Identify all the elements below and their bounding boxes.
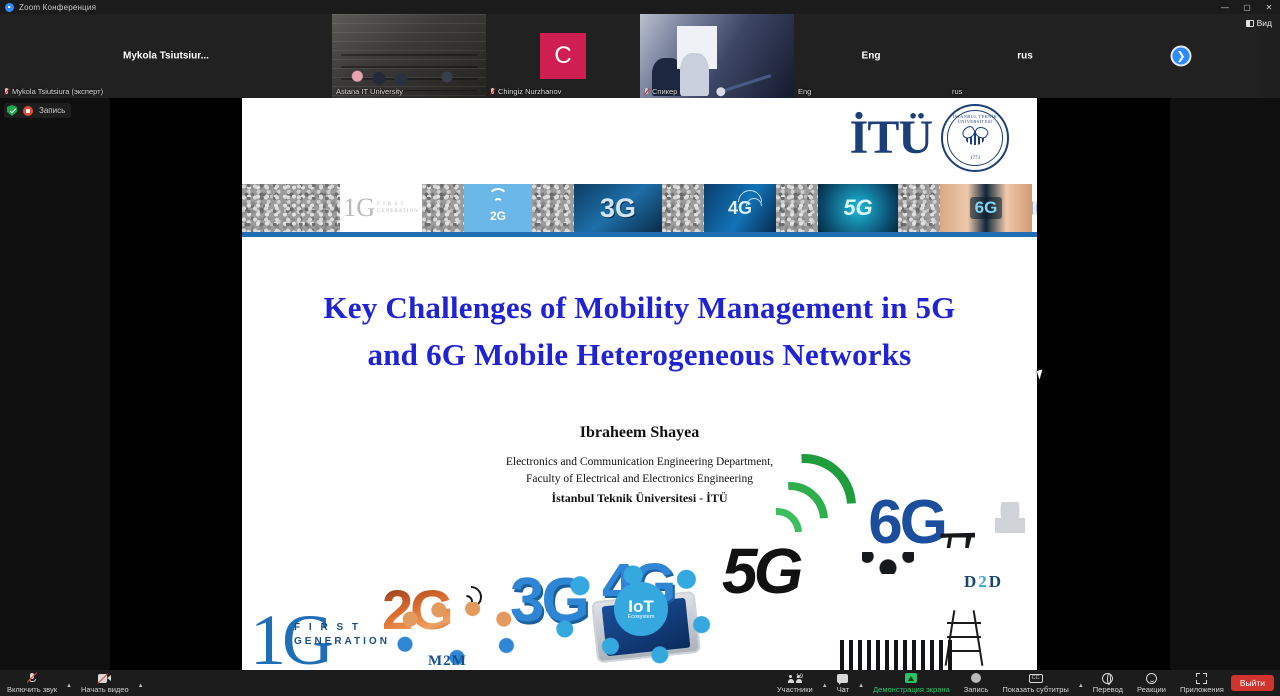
layout-icon <box>1246 20 1254 27</box>
microphone-muted-icon <box>27 673 37 684</box>
participant-name-label: rus <box>952 87 962 96</box>
participant-tile-astana-it-university[interactable]: Astana IT University <box>332 14 486 98</box>
strip-noise <box>776 184 818 232</box>
strip-noise <box>898 184 940 232</box>
toolbar-participants-button[interactable]: 19 Участники <box>770 670 820 696</box>
strip-1g-label: 1G <box>343 193 375 223</box>
toolbar-captions-button[interactable]: CC Показать субтитры <box>995 670 1075 696</box>
itu-seal-icon: İSTANBUL TEKNİK ÜNİVERSİTESİ 1773 <box>941 104 1009 172</box>
strip-1g-sub: F I R S TGENERATION <box>377 201 419 215</box>
iot-title: IoT <box>628 598 654 615</box>
strip-4g: 4G <box>704 184 776 232</box>
participant-nameplate: Astana IT University <box>336 87 403 96</box>
art-d2d-label: D2D <box>964 572 1003 592</box>
zoom-meeting-window: Zoom Конференция — ▢ ✕ Вид Mykola Tsiuts… <box>0 0 1280 696</box>
meeting-toolbar[interactable]: Включить звук ▲ Начать видео ▲ 19 Участн… <box>0 670 1280 696</box>
maximize-button[interactable]: ▢ <box>1236 0 1258 14</box>
slide-title: Key Challenges of Mobility Management in… <box>242 285 1037 378</box>
recording-label: Запись <box>39 106 65 115</box>
recording-indicator[interactable]: Запись <box>4 103 71 118</box>
participant-name-label: Спикер <box>652 87 677 96</box>
strip-2g: 2G <box>464 184 532 232</box>
toolbar-reactions-label: Реакции <box>1137 685 1166 694</box>
record-circle-icon <box>971 673 981 683</box>
participant-tile-mykola[interactable]: Mykola Tsiutsiur... Mykola Tsiutsiura (э… <box>0 14 332 98</box>
iot-subtitle: Ecosystem <box>628 615 655 621</box>
seal-year: 1773 <box>948 156 1002 161</box>
participant-nameplate: rus <box>952 87 962 96</box>
itu-wordmark: İTÜ <box>850 114 932 162</box>
strip-noise <box>242 184 340 232</box>
minimize-button[interactable]: — <box>1214 0 1236 14</box>
captions-options-caret[interactable]: ▲ <box>1076 683 1086 689</box>
toolbar-reactions-button[interactable]: Реакции <box>1130 670 1173 696</box>
participant-name-label: Eng <box>798 87 811 96</box>
art-5g-label: 5G <box>722 534 799 608</box>
participant-display-name: rus <box>948 51 1102 62</box>
slide-artwork: 1G F I R S TGENERATION 2G 3G 4G 5G 6G D2… <box>242 500 1037 670</box>
seal-text: İSTANBUL TEKNİK ÜNİVERSİTESİ <box>948 114 1002 124</box>
affiliation-line1: Electronics and Communication Engineerin… <box>242 454 1037 471</box>
strip-noise <box>532 184 574 232</box>
window-title: Zoom Конференция <box>19 3 96 12</box>
wifi-icon <box>481 193 515 208</box>
strip-6g: 6G <box>940 184 1032 232</box>
toolbar-video-button[interactable]: Начать видео <box>74 670 136 696</box>
audio-options-caret[interactable]: ▲ <box>64 683 74 689</box>
window-titlebar: Zoom Конференция — ▢ ✕ <box>0 0 1280 14</box>
presentation-board <box>677 26 717 70</box>
microphone-stand <box>721 74 772 93</box>
participant-name-label: Mykola Tsiutsiura (эксперт) <box>12 87 103 96</box>
art-6g-label: 6G <box>868 487 945 558</box>
participant-tile-chingiz-nurzhanov[interactable]: C Chingiz Nurzhanov <box>486 14 640 98</box>
humanoid-robot-icon <box>995 502 1025 542</box>
slide-header: İTÜ İSTANBUL TEKNİK ÜNİVERSİTESİ 1773 <box>242 98 1037 184</box>
strip-1g: 1GF I R S TGENERATION <box>340 184 422 232</box>
apps-icon <box>1196 673 1207 684</box>
participant-tile-rus[interactable]: rus rus <box>948 14 1102 98</box>
strip-noise <box>662 184 704 232</box>
strip-2g-label: 2G <box>490 209 506 223</box>
video-feed <box>332 14 486 98</box>
shared-slide: İTÜ İSTANBUL TEKNİK ÜNİVERSİTESİ 1773 1G… <box>242 98 1037 670</box>
toolbar-share-label: Демонстрация экрана <box>873 685 950 694</box>
signal-arcs-icon <box>736 188 762 214</box>
participant-nameplate: Eng <box>798 87 811 96</box>
shield-check-icon <box>7 105 17 116</box>
record-dot-icon <box>23 106 33 116</box>
participants-options-caret[interactable]: ▲ <box>820 683 830 689</box>
view-button[interactable]: Вид <box>1243 16 1275 30</box>
view-button-label: Вид <box>1257 18 1272 28</box>
d2d-mid: 2 <box>978 572 989 591</box>
slide-title-line2: and 6G Mobile Heterogeneous Networks <box>242 332 1037 379</box>
toolbar-audio-label: Включить звук <box>7 685 57 694</box>
filmstrip-next-page[interactable]: ❯ <box>1102 14 1260 98</box>
video-options-caret[interactable]: ▲ <box>136 683 146 689</box>
microphone-muted-icon <box>4 88 9 96</box>
toolbar-apps-label: Приложения <box>1180 685 1224 694</box>
strip-5g-label: 5G <box>843 195 872 221</box>
chat-bubble-icon <box>837 674 848 683</box>
share-screen-icon <box>905 673 917 683</box>
leave-meeting-button[interactable]: Выйти <box>1231 675 1274 691</box>
participant-display-name: Mykola Tsiutsiur... <box>0 51 332 62</box>
toolbar-audio-button[interactable]: Включить звук <box>0 670 64 696</box>
avatar: C <box>540 33 586 79</box>
reactions-icon <box>1146 673 1157 684</box>
participant-nameplate: Mykola Tsiutsiura (эксперт) <box>4 87 103 96</box>
strip-3g-label: 3G <box>600 193 636 224</box>
participant-tile-eng[interactable]: Eng Eng <box>794 14 948 98</box>
microphone-muted-icon <box>644 88 649 96</box>
close-button[interactable]: ✕ <box>1258 0 1280 14</box>
slide-accent-rule <box>242 232 1037 237</box>
participant-name-label: Chingiz Nurzhanov <box>498 87 561 96</box>
window-controls: — ▢ ✕ <box>1214 0 1280 14</box>
art-1g-sub: F I R S TGENERATION <box>294 621 390 648</box>
strip-5g: 5G <box>818 184 898 232</box>
toolbar-chat-button[interactable]: Чат <box>830 670 856 696</box>
arrow-right-icon <box>1032 193 1037 223</box>
m2m-label: M2M <box>428 653 467 670</box>
bee-icon <box>966 132 984 145</box>
toolbar-chat-label: Чат <box>837 685 849 694</box>
toolbar-participants-label: Участники <box>777 685 813 694</box>
zoom-logo-icon <box>5 3 14 12</box>
toolbar-record-button[interactable]: Запись <box>957 670 996 696</box>
chevron-right-icon[interactable]: ❯ <box>1171 46 1192 67</box>
affiliation-line2: Faculty of Electrical and Electronics En… <box>242 471 1037 488</box>
camera-muted-icon <box>98 674 111 683</box>
generation-timeline-strip: 1GF I R S TGENERATION 2G 3G 4G <box>242 184 1037 232</box>
video-feed <box>640 14 794 98</box>
participant-nameplate: Спикер <box>644 87 677 96</box>
toolbar-record-label: Запись <box>964 685 989 694</box>
strip-noise <box>422 184 464 232</box>
participant-name-label: Astana IT University <box>336 87 403 96</box>
globe-icon <box>1102 673 1113 684</box>
drone-icon <box>862 552 914 574</box>
toolbar-share-screen-button[interactable]: Демонстрация экрана <box>866 670 957 696</box>
chat-options-caret[interactable]: ▲ <box>856 683 866 689</box>
crowd-icon <box>840 640 952 670</box>
toolbar-captions-label: Показать субтитры <box>1002 685 1068 694</box>
slide-title-line1: Key Challenges of Mobility Management in… <box>242 285 1037 332</box>
d2d-right: D <box>989 572 1003 591</box>
participants-count-badge: 19 <box>796 673 803 680</box>
participant-display-name: Eng <box>794 51 948 62</box>
presenter-name: Ibraheem Shayea <box>242 424 1037 442</box>
strip-3g: 3G <box>574 184 662 232</box>
toolbar-interpretation-button[interactable]: Перевод <box>1086 670 1130 696</box>
toolbar-apps-button[interactable]: Приложения <box>1173 670 1231 696</box>
shared-screen-stage: İTÜ İSTANBUL TEKNİK ÜNİVERSİTESİ 1773 1G… <box>110 98 1170 670</box>
microphone-muted-icon <box>490 88 495 96</box>
iot-core-badge: IoT Ecosystem <box>614 582 668 636</box>
participant-tile-speaker[interactable]: Спикер <box>640 14 794 98</box>
participant-filmstrip[interactable]: Mykola Tsiutsiur... Mykola Tsiutsiura (э… <box>0 14 1280 98</box>
toolbar-interpretation-label: Перевод <box>1093 685 1123 694</box>
closed-caption-icon: CC <box>1029 674 1043 683</box>
d2d-left: D <box>964 572 978 591</box>
toolbar-video-label: Начать видео <box>81 685 129 694</box>
participant-nameplate: Chingiz Nurzhanov <box>490 87 561 96</box>
strip-6g-label: 6G <box>970 197 1003 219</box>
strip-forward-arrow <box>1032 184 1037 232</box>
